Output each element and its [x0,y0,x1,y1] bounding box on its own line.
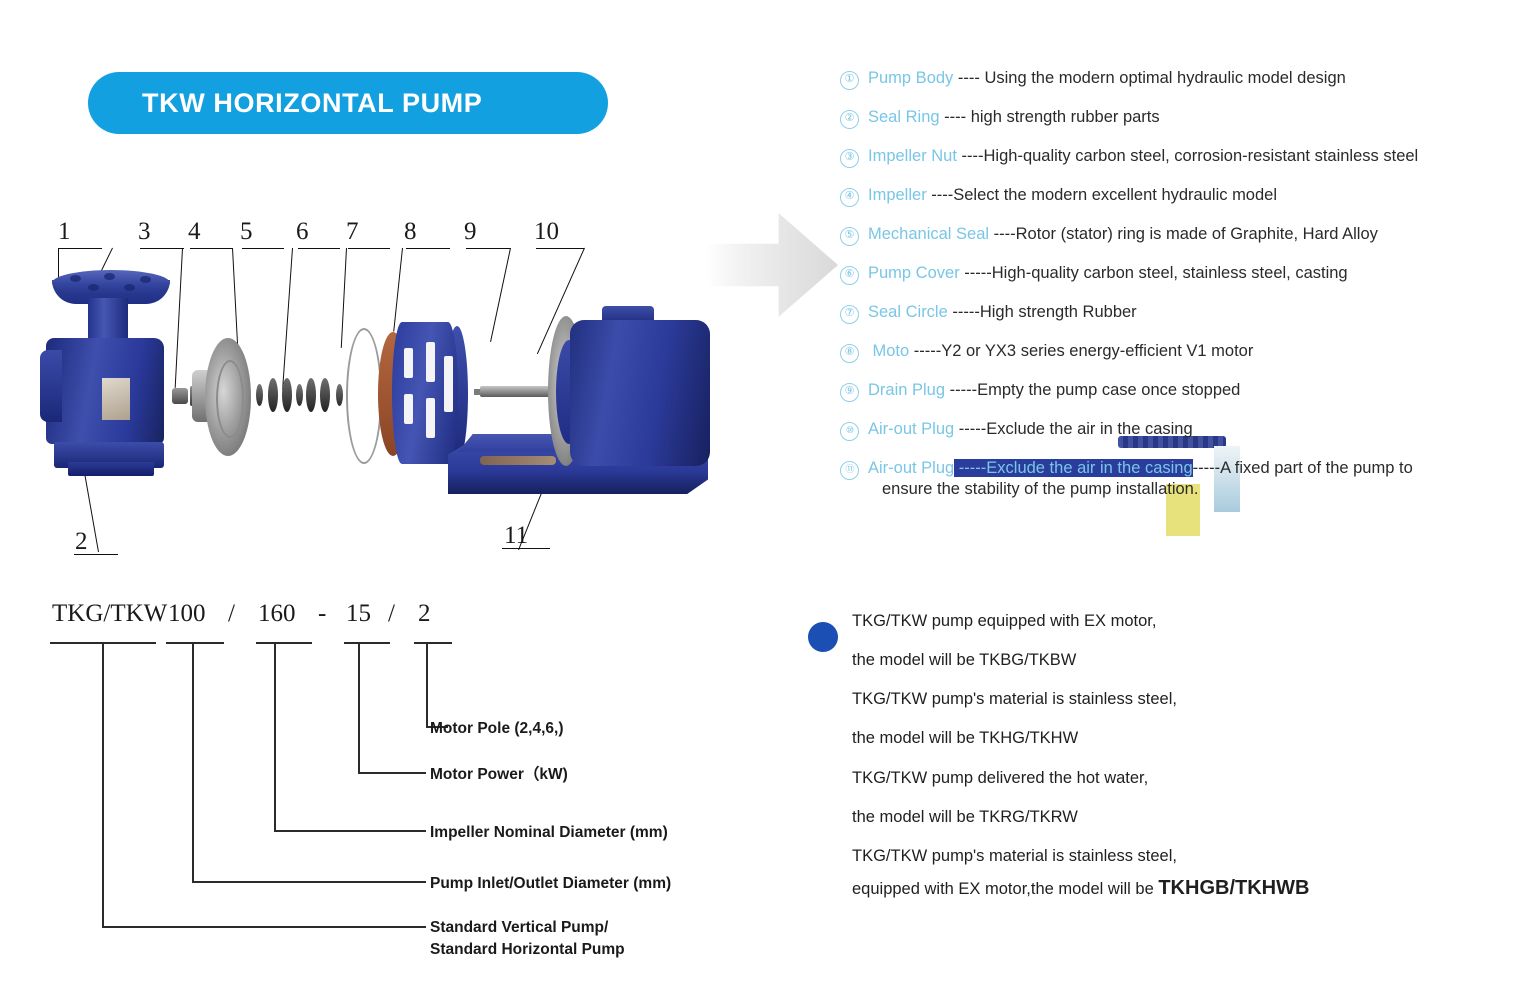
callout-5: 5 [240,218,253,246]
pump-casing-label [102,378,130,420]
feature-item-11: ⑪ Air-out Plug -----Exclude the air in t… [840,458,1500,500]
code-series: TKG/TKW [52,600,167,628]
leader-8-v [393,248,403,332]
leader-11-h [502,548,550,549]
leader-3-h [140,248,184,249]
leader-4-v [175,248,184,388]
feature-desc: -----Y2 or YX3 series energy-efficient V… [909,342,1253,360]
note-line-4: the model will be TKHG/TKHW [852,729,1448,747]
mechanical-seal-part [256,378,348,412]
impeller-nut-part [172,388,188,404]
leader-2-h [74,554,118,555]
dropline-power [358,642,360,773]
feature-desc: -----Empty the pump case once stopped [945,381,1240,399]
leader-10-h [536,248,584,249]
dropline-impeller [274,642,276,831]
note-last-prefix: equipped with EX motor,the model will be [852,880,1158,898]
elbow-inlet [192,881,426,883]
underline-power [344,642,390,644]
leader-6-v [282,248,293,390]
callout-6: 6 [296,218,309,246]
feature-name: Impeller Nut [868,147,957,165]
underline-pole [414,642,452,644]
feature-desc: ---- high strength rubber parts [940,108,1160,126]
feature-name: Seal Ring [868,108,940,126]
feature-item-9: ⑨ Drain Plug -----Empty the pump case on… [840,380,1500,402]
leader-6-h [298,248,340,249]
model-code-breakdown: TKG/TKW 100 / 160 - 15 / 2 Motor Pole (2… [40,600,740,980]
feature-number-icon: ⑩ [840,422,859,441]
note-line-8: equipped with EX motor,the model will be… [852,877,1448,899]
elbow-impeller [274,830,426,832]
leader-4-h [190,248,232,249]
page-title: TKW HORIZONTAL PUMP [88,88,482,119]
dropline-inlet [192,642,194,882]
leader-7-v [341,248,348,348]
leader-1-h [58,248,102,249]
feature-number-icon: ⑧ [840,344,859,363]
feature-item-1: ① Pump Body ---- Using the modern optima… [840,68,1500,90]
underline-inlet [166,642,224,644]
feature-desc-line2: ensure the stability of the pump install… [868,479,1500,500]
feature-desc: -----High-quality carbon steel, stainles… [960,264,1348,282]
feature-name: Moto [872,342,909,360]
feature-item-7: ⑦ Seal Circle -----High strength Rubber [840,302,1500,324]
leader-8-h [406,248,450,249]
feature-item-2: ② Seal Ring ---- high strength rubber pa… [840,107,1500,129]
pump-suction-flange [52,270,170,296]
feature-desc: -----High strength Rubber [948,303,1137,321]
note-line-5: TKG/TKW pump delivered the hot water, [852,769,1448,787]
feature-list: ① Pump Body ---- Using the modern optima… [840,68,1500,517]
feature-number-icon: ② [840,110,859,129]
note-line-7: TKG/TKW pump's material is stainless ste… [852,847,1448,865]
note-line-3: TKG/TKW pump's material is stainless ste… [852,690,1448,708]
leader-7-h [348,248,390,249]
feature-number-icon: ⑦ [840,305,859,324]
pump-cover-part [392,322,458,464]
feature-desc: ---- Using the modern optimal hydraulic … [953,69,1346,87]
code-impeller-dia: 160 [258,600,296,628]
leader-5-v [232,248,239,352]
callout-9: 9 [464,218,477,246]
label-impeller-dia: Impeller Nominal Diameter (mm) [430,823,668,844]
underline-impeller [256,642,312,644]
elbow-series [102,926,426,928]
feature-desc: -----Exclude the air in the casing [954,420,1192,438]
callout-4: 4 [188,218,201,246]
impeller-ring [216,360,244,438]
exploded-pump-diagram: 1 3 4 5 6 7 8 9 10 2 11 [40,210,730,570]
feature-desc: ----High-quality carbon steel, corrosion… [957,147,1418,165]
feature-number-icon: ③ [840,149,859,168]
feature-number-icon: ① [840,71,859,90]
callout-1: 1 [58,218,71,246]
label-standard-pump-2: Standard Horizontal Pump [430,940,625,961]
motor-part [570,320,710,466]
feature-desc: ----Rotor (stator) ring is made of Graph… [989,225,1378,243]
feature-number-icon: ⑪ [840,461,859,480]
dropline-series [102,642,104,927]
feature-name: Pump Body [868,69,953,87]
elbow-power [358,772,426,774]
note-line-2: the model will be TKBG/TKBW [852,651,1448,669]
code-pole: 2 [418,600,431,628]
bullet-dot-icon [808,622,838,652]
title-banner: TKW HORIZONTAL PUMP [88,72,608,134]
pump-base-mark [480,456,556,465]
dropline-pole [426,642,428,727]
feature-item-8: ⑧ Moto -----Y2 or YX3 series energy-effi… [840,341,1500,363]
feature-number-icon: ⑤ [840,227,859,246]
pump-foot-base [68,462,154,476]
code-sep-2: - [318,600,326,628]
note-last-model: TKHGB/TKHWB [1158,877,1309,899]
label-motor-power: Motor Power（kW) [430,765,568,786]
callout-2: 2 [75,528,88,556]
feature-item-10: ⑩ Air-out Plug -----Exclude the air in t… [840,419,1500,441]
feature-name: Drain Plug [868,381,945,399]
feature-item-6: ⑥ Pump Cover -----High-quality carbon st… [840,263,1500,285]
label-standard-pump: Standard Vertical Pump/ [430,918,608,939]
feature-name: Mechanical Seal [868,225,989,243]
leader-9-v [490,248,511,342]
label-motor-pole: Motor Pole (2,4,6,) [430,719,564,740]
callout-8: 8 [404,218,417,246]
feature-number-icon: ④ [840,188,859,207]
feature-desc-blue: -----Exclude the air in the casing [954,459,1192,477]
feature-desc: -----A fixed part of the pump to [1193,459,1413,477]
feature-name: Air-out Plug [868,459,954,477]
product-spec-page: TKW HORIZONTAL PUMP 1 3 4 5 6 7 8 9 10 2… [0,0,1513,1000]
feature-item-3: ③ Impeller Nut ----High-quality carbon s… [840,146,1500,168]
feature-name: Air-out Plug [868,420,954,438]
feature-name: Impeller [868,186,927,204]
feature-desc: ----Select the modern excellent hydrauli… [927,186,1277,204]
code-inlet: 100 [168,600,206,628]
notes-block: TKG/TKW pump equipped with EX motor, the… [808,612,1448,920]
feature-name: Pump Cover [868,264,960,282]
label-inlet-dia: Pump Inlet/Outlet Diameter (mm) [430,874,671,895]
feature-item-5: ⑤ Mechanical Seal ----Rotor (stator) rin… [840,224,1500,246]
code-power: 15 [346,600,371,628]
callout-3: 3 [138,218,151,246]
callout-10: 10 [534,218,559,246]
leader-5-h [242,248,284,249]
feature-number-icon: ⑥ [840,266,859,285]
feature-name: Seal Circle [868,303,948,321]
note-line-1: TKG/TKW pump equipped with EX motor, [852,612,1448,630]
leader-11-v [518,485,546,550]
note-line-6: the model will be TKRG/TKRW [852,808,1448,826]
feature-number-icon: ⑨ [840,383,859,402]
callout-7: 7 [346,218,359,246]
code-sep-3: / [388,600,395,628]
seal-circle-part [346,328,382,464]
code-sep-1: / [228,600,235,628]
leader-9-h [466,248,510,249]
pump-casing-lip [40,350,62,422]
feature-item-4: ④ Impeller ----Select the modern excelle… [840,185,1500,207]
